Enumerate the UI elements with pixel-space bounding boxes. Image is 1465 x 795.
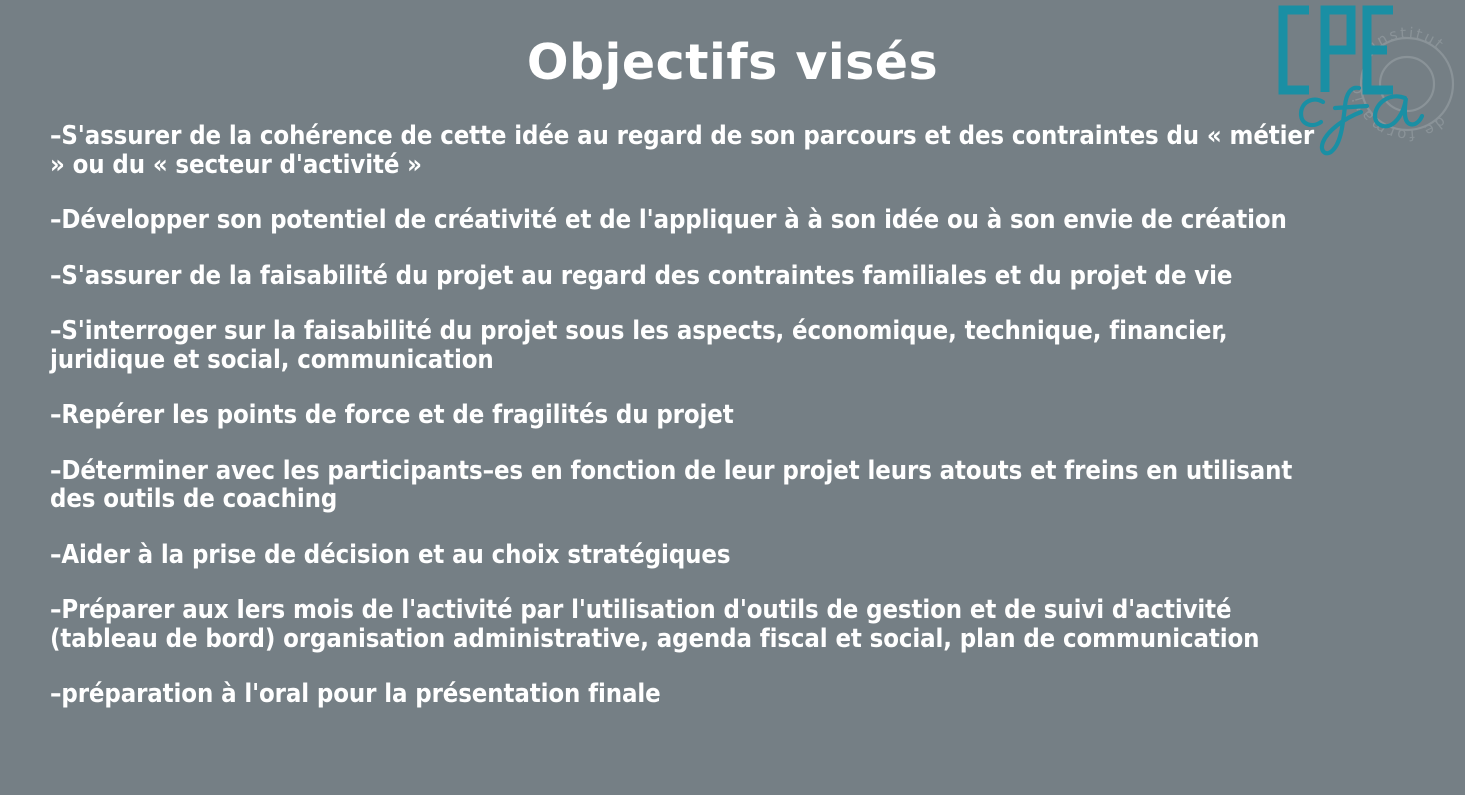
list-item: –Aider à la prise de décision et au choi… <box>50 541 1335 570</box>
list-item: –préparation à l'oral pour la présentati… <box>50 680 1335 709</box>
list-item: –S'assurer de la cohérence de cette idée… <box>50 122 1335 179</box>
objectives-list: –S'assurer de la cohérence de cette idée… <box>50 122 1335 709</box>
list-item: –Déterminer avec les participants–es en … <box>50 457 1335 514</box>
presentation-slide: institut de formation O <box>0 0 1465 795</box>
slide-title: Objectifs visés <box>0 38 1465 87</box>
list-item: –Développer son potentiel de créativité … <box>50 206 1335 235</box>
list-item: –Repérer les points de force et de fragi… <box>50 401 1335 430</box>
list-item: –S'interroger sur la faisabilité du proj… <box>50 317 1335 374</box>
list-item: –S'assurer de la faisabilité du projet a… <box>50 262 1335 291</box>
list-item: –Préparer aux Iers mois de l'activité pa… <box>50 596 1335 653</box>
